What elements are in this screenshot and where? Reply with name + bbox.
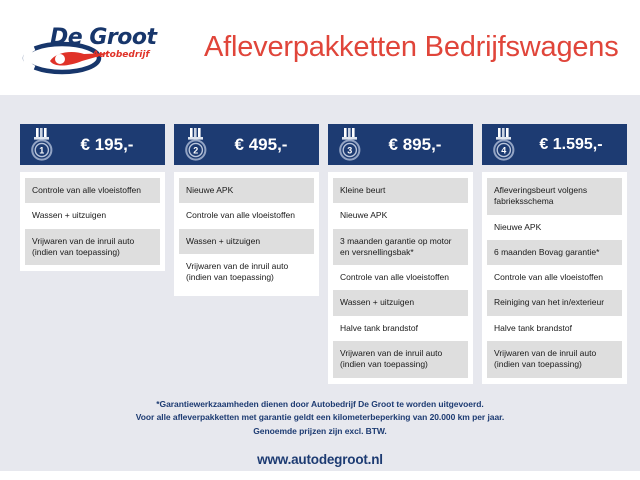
footer-note-line: Voor alle afleverpakketten met garantie … xyxy=(0,411,640,425)
feature-item: Halve tank brandstof xyxy=(487,316,622,341)
feature-item: Vrijwaren van de inruil auto (indien van… xyxy=(179,254,314,291)
feature-item: Controle van alle vloeistoffen xyxy=(25,178,160,203)
feature-item: Wassen + uitzuigen xyxy=(25,203,160,228)
feature-item: Controle van alle vloeistoffen xyxy=(179,203,314,228)
package-price-1: € 195,- xyxy=(55,135,165,155)
company-logo[interactable]: De Groot Autobedrijf xyxy=(22,19,162,77)
feature-item: 3 maanden garantie op motor en versnelli… xyxy=(333,229,468,266)
package-column-1: 1 € 195,- Controle van alle vloeistoffen… xyxy=(20,124,165,271)
logo-tagline: Autobedrijf xyxy=(92,50,149,60)
package-column-2: 2 € 495,- Nieuwe APK Controle van alle v… xyxy=(174,124,319,296)
packages-columns: 1 € 195,- Controle van alle vloeistoffen… xyxy=(0,95,640,384)
bottom-margin xyxy=(0,471,640,480)
medal-rank-1: 1 xyxy=(39,145,44,155)
feature-item: Wassen + uitzuigen xyxy=(179,229,314,254)
feature-item: Vrijwaren van de inruil auto (indien van… xyxy=(25,229,160,266)
package-features-card-4: Afleveringsbeurt volgens fabrieksschema … xyxy=(482,172,627,384)
feature-item: Reiniging van het in/exterieur xyxy=(487,290,622,315)
packages-panel: 1 € 195,- Controle van alle vloeistoffen… xyxy=(0,95,640,471)
medal-rank-2: 2 xyxy=(193,145,198,155)
feature-item: Nieuwe APK xyxy=(179,178,314,203)
medal-icon: 2 xyxy=(183,128,209,162)
feature-item: Nieuwe APK xyxy=(487,215,622,240)
medal-icon: 4 xyxy=(491,128,517,162)
logo-company-name: De Groot xyxy=(50,25,157,50)
feature-item: Halve tank brandstof xyxy=(333,316,468,341)
feature-item: Wassen + uitzuigen xyxy=(333,290,468,315)
package-column-3: 3 € 895,- Kleine beurt Nieuwe APK 3 maan… xyxy=(328,124,473,384)
package-features-card-1: Controle van alle vloeistoffen Wassen + … xyxy=(20,172,165,271)
footer-note-line: *Garantiewerkzaamheden dienen door Autob… xyxy=(0,398,640,412)
page-title: Afleverpakketten Bedrijfswagens xyxy=(204,31,619,64)
feature-item: Vrijwaren van de inruil auto (indien van… xyxy=(487,341,622,378)
medal-icon: 3 xyxy=(337,128,363,162)
medal-rank-4: 4 xyxy=(501,145,506,155)
feature-item: Kleine beurt xyxy=(333,178,468,203)
package-header-4: 4 € 1.595,- xyxy=(482,124,627,165)
package-header-2: 2 € 495,- xyxy=(174,124,319,165)
feature-item: Controle van alle vloeistoffen xyxy=(333,265,468,290)
page-header: De Groot Autobedrijf Afleverpakketten Be… xyxy=(0,0,640,95)
feature-item: Nieuwe APK xyxy=(333,203,468,228)
feature-item: Afleveringsbeurt volgens fabrieksschema xyxy=(487,178,622,215)
package-price-2: € 495,- xyxy=(209,135,319,155)
package-header-1: 1 € 195,- xyxy=(20,124,165,165)
package-header-3: 3 € 895,- xyxy=(328,124,473,165)
package-features-card-2: Nieuwe APK Controle van alle vloeistoffe… xyxy=(174,172,319,296)
package-price-4: € 1.595,- xyxy=(517,136,627,154)
footer-note-line: Genoemde prijzen zijn excl. BTW. xyxy=(0,425,640,439)
package-features-card-3: Kleine beurt Nieuwe APK 3 maanden garant… xyxy=(328,172,473,384)
feature-item: 6 maanden Bovag garantie* xyxy=(487,240,622,265)
package-column-4: 4 € 1.595,- Afleveringsbeurt volgens fab… xyxy=(482,124,627,384)
medal-rank-3: 3 xyxy=(347,145,352,155)
feature-item: Vrijwaren van de inruil auto (indien van… xyxy=(333,341,468,378)
website-link[interactable]: www.autodegroot.nl xyxy=(0,452,640,467)
page-footer: *Garantiewerkzaamheden dienen door Autob… xyxy=(0,384,640,467)
feature-item: Controle van alle vloeistoffen xyxy=(487,265,622,290)
package-price-3: € 895,- xyxy=(363,135,473,155)
medal-icon: 1 xyxy=(29,128,55,162)
